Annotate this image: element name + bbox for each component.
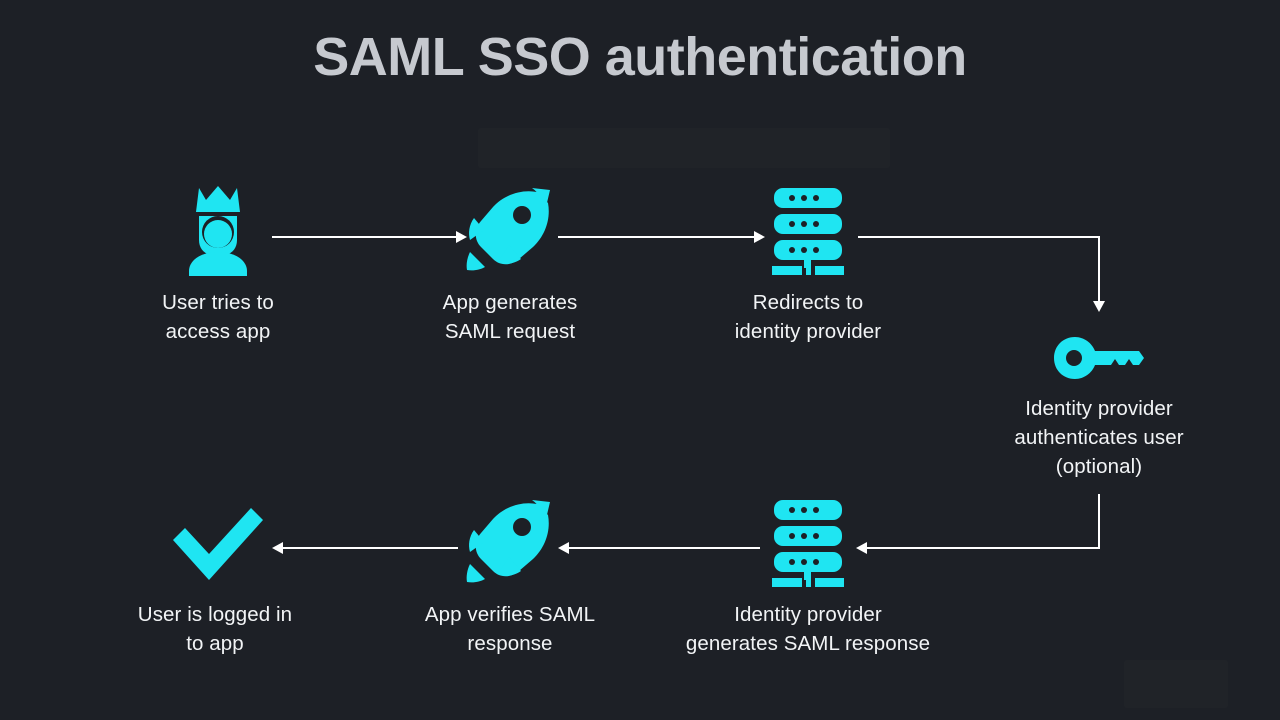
step-app-generates-request: App generates SAML request [390,180,630,346]
watermark-top [478,128,890,168]
diagram-canvas: SAML SSO authentication User tries to ac… [0,0,1280,720]
step-caption: Redirects to identity provider [688,288,928,346]
server-icon [688,180,928,280]
step-idp-authenticates-user: Identity provider authenticates user (op… [979,330,1219,481]
watermark-bottom-right [1124,660,1228,708]
connector-key-to-response-vertical [1098,494,1100,548]
rocket-icon [390,180,630,280]
step-caption: App generates SAML request [390,288,630,346]
step-caption: User is logged in to app [95,600,335,658]
checkmark-icon [95,492,335,592]
step-caption: Identity provider authenticates user (op… [979,394,1219,481]
connector-idp-to-key-vertical [1098,236,1100,303]
arrowhead-down [1093,301,1105,312]
step-redirects-to-idp: Redirects to identity provider [688,180,928,346]
connector-idp-to-key-horizontal [858,236,1100,238]
key-icon [979,330,1219,386]
step-user-tries-access: User tries to access app [98,180,338,346]
step-app-verifies-response: App verifies SAML response [390,492,630,658]
step-user-logged-in: User is logged in to app [95,492,335,658]
server-icon [658,492,958,592]
step-idp-generates-response: Identity provider generates SAML respons… [658,492,958,658]
step-caption: App verifies SAML response [390,600,630,658]
page-title: SAML SSO authentication [0,26,1280,88]
rocket-icon [390,492,630,592]
crowned-user-icon [98,180,338,280]
step-caption: Identity provider generates SAML respons… [658,600,958,658]
step-caption: User tries to access app [98,288,338,346]
